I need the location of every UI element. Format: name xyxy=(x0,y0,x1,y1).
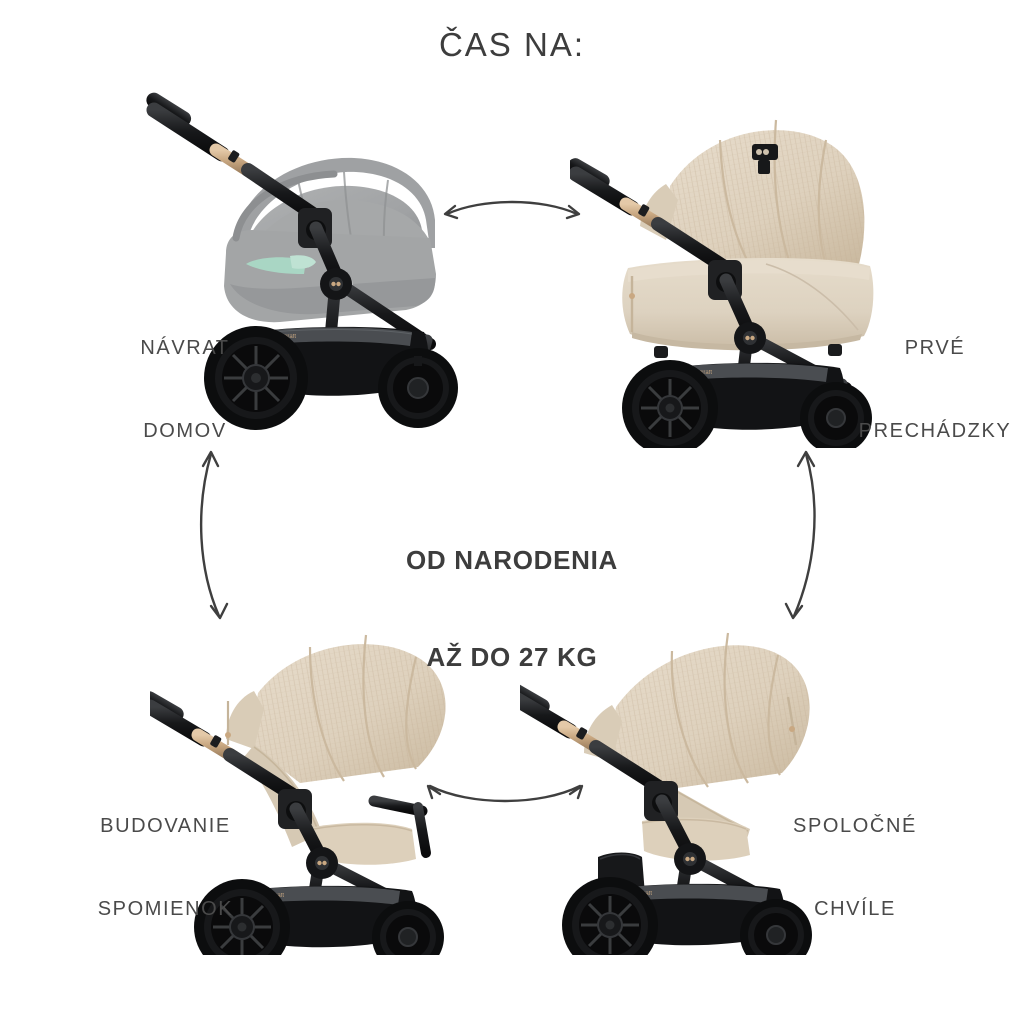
label-navrat-domov: NÁVRAT DOMOV xyxy=(95,280,275,501)
frame-center-hub xyxy=(674,843,706,875)
label-spolocne-chvile: SPOLOČNÉ CHVÍLE xyxy=(760,758,950,979)
label-line2: SPOMIENOK xyxy=(58,896,273,924)
frame-center-hub xyxy=(320,268,352,300)
infographic-canvas: ČAS NA: xyxy=(0,0,1024,1024)
arrow-top-bidirectional xyxy=(437,180,587,233)
stroller-handle-bar xyxy=(144,90,316,216)
center-headline: OD NARODENIA AŽ DO 27 KG xyxy=(406,480,618,738)
label-line2: CHVÍLE xyxy=(760,896,950,924)
label-line1: SPOLOČNÉ xyxy=(760,813,950,841)
frame-center-hub xyxy=(306,847,338,879)
center-headline-line2: AŽ DO 27 KG xyxy=(406,641,618,673)
frame-center-hub xyxy=(734,322,766,354)
arrow-right-bidirectional xyxy=(772,440,832,635)
front-wheel xyxy=(378,348,458,428)
page-title: ČAS NA: xyxy=(0,26,1024,64)
label-line2: PRECHÁDZKY xyxy=(845,418,1024,446)
label-budovanie-spomienok: BUDOVANIE SPOMIENOK xyxy=(58,758,273,979)
center-headline-line1: OD NARODENIA xyxy=(406,544,618,576)
arrow-bottom-bidirectional xyxy=(418,772,592,825)
label-prve-prechadzky: PRVÉ PRECHÁDZKY xyxy=(845,280,1024,501)
label-line1: BUDOVANIE xyxy=(58,813,273,841)
label-line1: PRVÉ xyxy=(845,335,1024,363)
label-line2: DOMOV xyxy=(95,418,275,446)
label-line1: NÁVRAT xyxy=(95,335,275,363)
carrycot-canopy xyxy=(640,120,864,278)
